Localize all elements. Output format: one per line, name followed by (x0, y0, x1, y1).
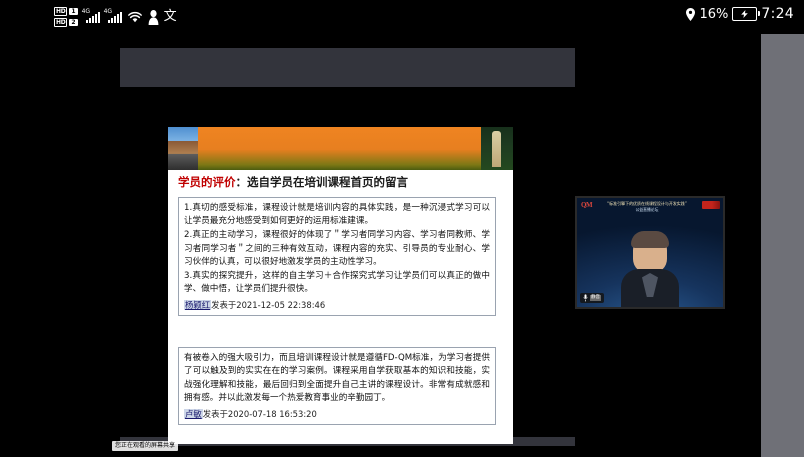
signal-strength-sim2-icon: 4G (104, 8, 122, 26)
slide-heading: 学员的评价：选自学员在培训课程首页的留言 (178, 175, 504, 189)
status-bar-right-icons: 16% 7:24 (686, 6, 794, 22)
hd-badge-sim2: HD (54, 18, 67, 27)
comment-card: 1.真切的感受标准，课程设计就是培训内容的具体实践，是一种沉浸式学习可以让学员最… (178, 197, 496, 316)
signal-bars-sim2 (108, 12, 122, 23)
comment-posted-label: 发表于 (211, 300, 236, 310)
signal-strength-sim1-icon: 4G (82, 8, 100, 26)
location-pin-icon (686, 8, 695, 21)
person-icon (147, 9, 160, 25)
partner-logo-icon (702, 201, 720, 209)
comment-paragraph: 3.真实的探究提升，这样的自主学习＋合作探究式学习让学员们可以真正的做中学、做中… (184, 270, 490, 297)
participant-video-tile[interactable]: QM “标准引擎下的优质在线课程设计与开发实践” 公益直播论坛 静音 (575, 196, 725, 309)
status-bar: HD 1 HD 2 4G 4G 文 (0, 0, 804, 34)
screen-share-stage[interactable]: 学员的评价：选自学员在培训课程首页的留言 1.真切的感受标准，课程设计就是培训内… (120, 48, 575, 446)
dual-sim-hd-indicator: HD 1 HD 2 (54, 7, 78, 27)
shared-slide: 学员的评价：选自学员在培训课程首页的留言 1.真切的感受标准，课程设计就是培训内… (168, 127, 513, 444)
comment-paragraph: 1.真切的感受标准，课程设计就是培训内容的具体实践，是一种沉浸式学习可以让学员最… (184, 202, 490, 229)
status-bar-left-icons: HD 1 HD 2 4G 4G 文 (54, 4, 177, 30)
comment-signature: 卢敏发表于2020-07-18 16:53:20 (184, 408, 490, 421)
comment-signature: 杨颖红发表于2021-12-05 22:38:46 (184, 299, 490, 312)
hd-badge-sim1: HD (54, 7, 67, 16)
battery-percent-label: 16% (699, 7, 728, 22)
sim1-badge: 1 (69, 8, 77, 15)
comment-posted-label: 发表于 (203, 409, 228, 419)
presenter-avatar (621, 233, 679, 307)
mic-status-label: 静音 (590, 295, 601, 301)
video-banner-text: “标准引擎下的优质在线课程设计与开发实践” 公益直播论坛 (595, 201, 699, 212)
comment-author-link[interactable]: 杨颖红 (184, 300, 211, 310)
participant-video-frame: QM “标准引擎下的优质在线课程设计与开发实践” 公益直播论坛 静音 (577, 198, 723, 307)
screen-share-toast: 您正在观看的屏幕共享 (112, 441, 178, 451)
banner-photo-left (168, 127, 198, 170)
banner-gradient-fill (198, 127, 481, 170)
comment-paragraph: 2.真正的主动学习，课程很好的体现了＂学习者同学习内容、学习者同教师、学习者同学… (184, 229, 490, 269)
mic-status-chip[interactable]: 静音 (580, 293, 604, 303)
presenter-hair (631, 231, 669, 248)
left-letterbox (0, 34, 120, 457)
comment-paragraph: 有被卷入的强大吸引力，而且培训课程设计就是遵循FD-QM标准，为学习者提供了可以… (184, 352, 490, 406)
comment-card: 有被卷入的强大吸引力，而且培训课程设计就是遵循FD-QM标准，为学习者提供了可以… (178, 347, 496, 425)
slide-canvas[interactable]: 学员的评价：选自学员在培训课程首页的留言 1.真切的感受标准，课程设计就是培训内… (120, 87, 575, 437)
signal-bars-sim1 (86, 12, 100, 23)
right-gutter (761, 34, 804, 457)
comment-timestamp: 2020-07-18 16:53:20 (228, 409, 317, 419)
wifi-icon (127, 9, 143, 25)
ime-language-icon: 文 (164, 9, 177, 25)
sim2-badge: 2 (69, 19, 77, 26)
banner-photo-right (481, 127, 513, 170)
slide-banner (168, 127, 513, 170)
slide-heading-highlight: 学员的评价 (178, 175, 236, 189)
qm-logo-icon: QM (581, 201, 592, 209)
comment-author-link[interactable]: 卢敏 (184, 409, 203, 419)
video-banner-subtitle: 公益直播论坛 (636, 207, 659, 212)
microphone-icon (583, 294, 588, 302)
comment-timestamp: 2021-12-05 22:38:46 (236, 300, 325, 310)
clock-label: 7:24 (761, 6, 794, 22)
slide-heading-rest: ：选自学员在培训课程首页的留言 (236, 175, 409, 189)
video-banner-title: “标准引擎下的优质在线课程设计与开发实践” (607, 201, 687, 206)
video-title-band: QM “标准引擎下的优质在线课程设计与开发实践” 公益直播论坛 (577, 198, 723, 224)
battery-charging-icon (732, 7, 757, 21)
